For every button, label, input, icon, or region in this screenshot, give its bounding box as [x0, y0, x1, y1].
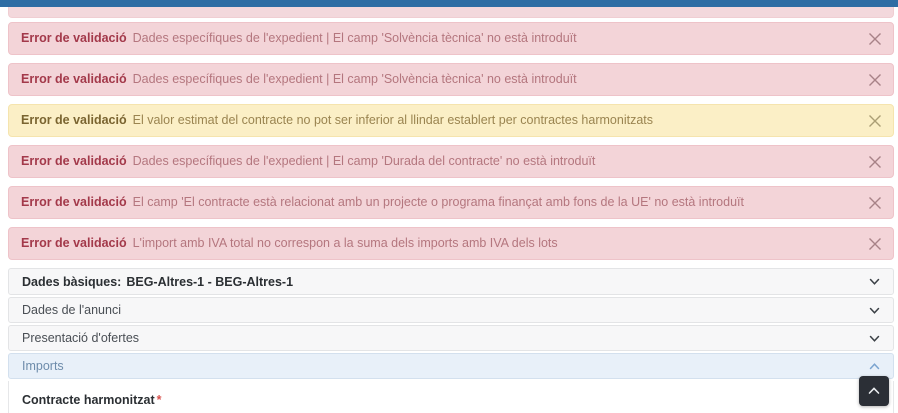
alert-validation-error: Error de validació L'import amb IVA tota… [8, 227, 894, 260]
alert-title: Error de validació [21, 154, 127, 170]
alert-partial-above [8, 7, 894, 18]
accordion-section-dades-basiques[interactable]: Dades bàsiques: BEG-Altres-1 - BEG-Altre… [8, 268, 894, 295]
accordion-section-imports[interactable]: Imports [8, 353, 894, 379]
chevron-up-icon [866, 383, 882, 399]
alert-message: Dades específiques de l'expedient | El c… [133, 31, 577, 47]
imports-form-panel: Contracte harmonitzat* Sí No [8, 381, 894, 413]
field-label-contracte-harmonitzat: Contracte harmonitzat* [22, 393, 880, 407]
alert-title: Error de validació [21, 31, 127, 47]
validation-errors-page: Error de validació Dades específiques de… [0, 0, 898, 413]
alert-message: Dades específiques de l'expedient | El c… [133, 154, 596, 170]
accordion-label: Imports [22, 359, 64, 373]
accordion-label: Presentació d'ofertes [22, 331, 139, 345]
alert-message: Dades específiques de l'expedient | El c… [133, 72, 577, 88]
field-label-text: Contracte harmonitzat [22, 393, 155, 407]
accordion-label: Dades bàsiques: [22, 275, 121, 289]
close-icon[interactable] [866, 30, 884, 48]
alert-validation-error: Error de validació Dades específiques de… [8, 63, 894, 96]
accordion-section-presentacio-ofertes[interactable]: Presentació d'ofertes [8, 325, 894, 351]
close-icon[interactable] [866, 235, 884, 253]
close-icon[interactable] [866, 71, 884, 89]
alert-title: Error de validació [21, 113, 127, 129]
close-icon[interactable] [866, 112, 884, 130]
scroll-to-top-button[interactable] [859, 376, 889, 406]
close-icon[interactable] [866, 194, 884, 212]
alert-validation-error: Error de validació El camp 'El contracte… [8, 186, 894, 219]
accordion-section-dades-anunci[interactable]: Dades de l'anunci [8, 297, 894, 323]
chevron-down-icon[interactable] [867, 275, 881, 289]
chevron-down-icon[interactable] [867, 303, 881, 317]
alert-validation-error: Error de validació Dades específiques de… [8, 145, 894, 178]
alert-message: L'import amb IVA total no correspon a la… [133, 236, 558, 252]
close-icon[interactable] [866, 153, 884, 171]
alert-title: Error de validació [21, 195, 127, 211]
top-accent-bar [0, 0, 898, 7]
alert-title: Error de validació [21, 236, 127, 252]
page-content: Error de validació Dades específiques de… [8, 7, 894, 413]
alert-title: Error de validació [21, 72, 127, 88]
alert-message: El camp 'El contracte està relacionat am… [133, 195, 744, 211]
chevron-up-icon[interactable] [867, 359, 881, 373]
chevron-down-icon[interactable] [867, 331, 881, 345]
alert-validation-warning: Error de validació El valor estimat del … [8, 104, 894, 137]
accordion-label: Dades de l'anunci [22, 303, 121, 317]
alert-message: El valor estimat del contracte no pot se… [133, 113, 653, 129]
alert-validation-error: Error de validació Dades específiques de… [8, 22, 894, 55]
accordion-value: BEG-Altres-1 - BEG-Altres-1 [126, 275, 293, 289]
required-marker: * [157, 393, 162, 407]
